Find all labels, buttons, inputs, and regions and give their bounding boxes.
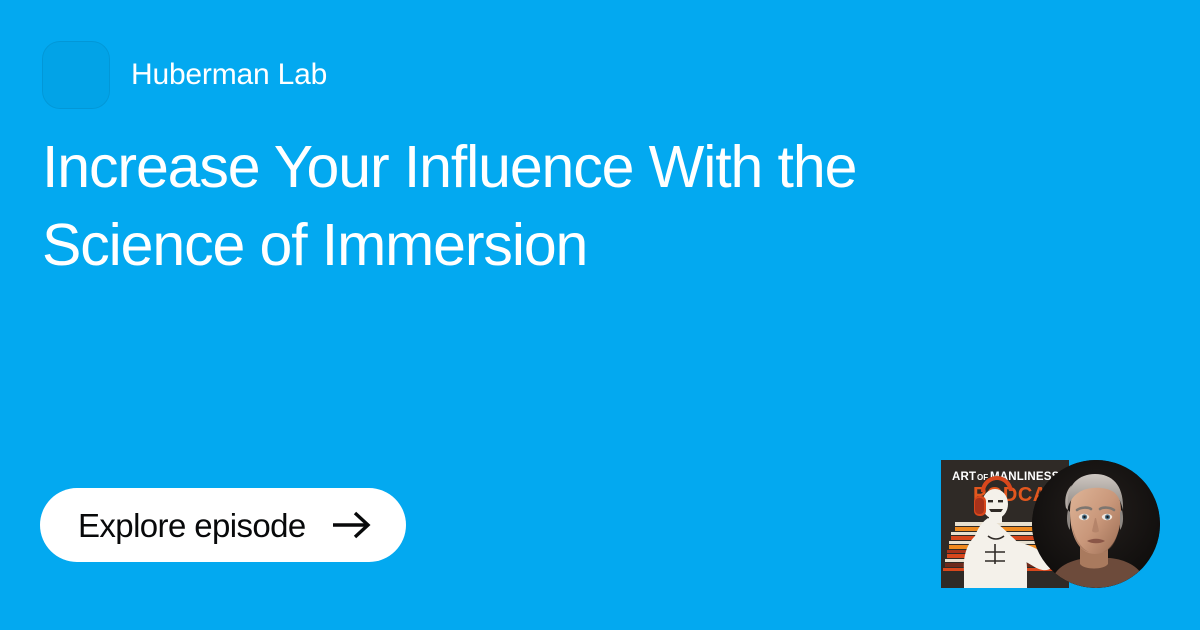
svg-text:ART: ART: [952, 471, 976, 483]
episode-title: Increase Your Influence With the Science…: [42, 128, 1052, 284]
show-logo-placeholder-icon: [42, 41, 110, 109]
artwork-cluster: ART OF MANLINESS PODCAST: [941, 460, 1160, 588]
explore-episode-button[interactable]: Explore episode: [40, 488, 406, 562]
episode-share-card: Huberman Lab Increase Your Influence Wit…: [0, 0, 1200, 630]
show-header: Huberman Lab: [42, 41, 327, 109]
show-name: Huberman Lab: [131, 60, 327, 90]
host-avatar: [1032, 460, 1160, 588]
arrow-right-icon: [332, 510, 372, 540]
explore-episode-label: Explore episode: [78, 509, 306, 542]
